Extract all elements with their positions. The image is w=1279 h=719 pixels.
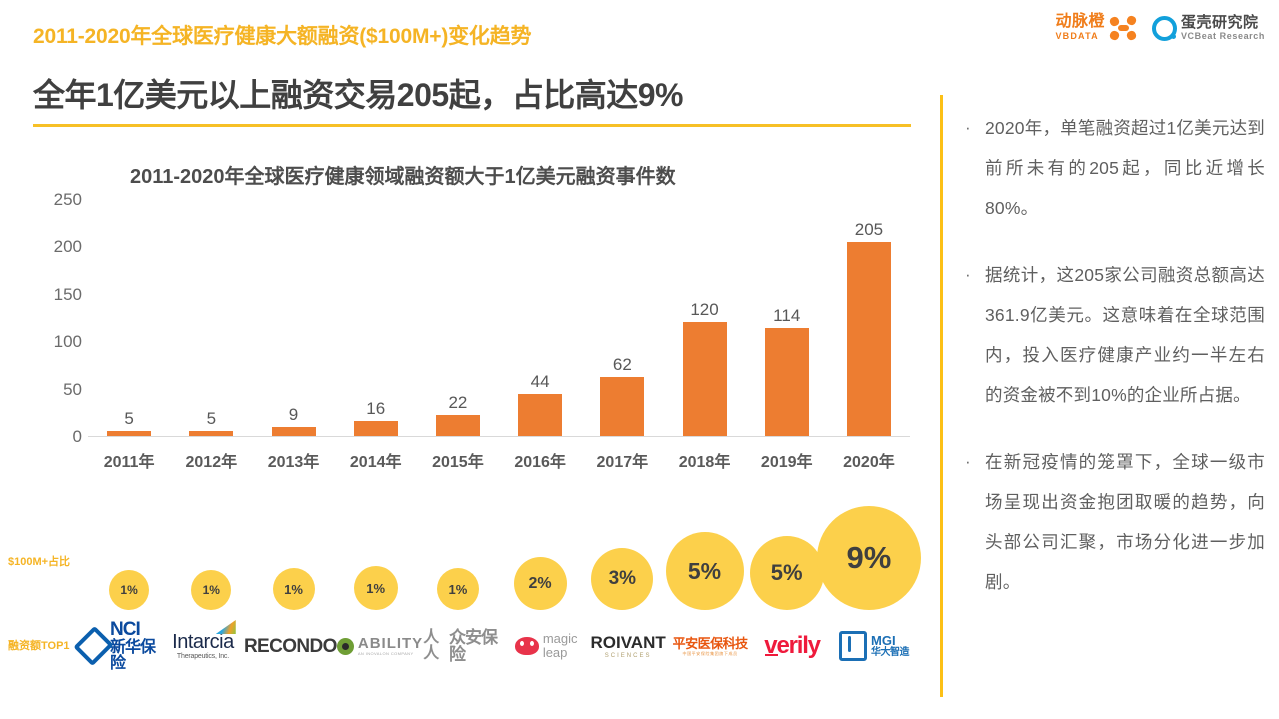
commentary-panel: ·2020年，单笔融资超过1亿美元达到前所未有的205起，同比近增长80%。·据…: [965, 108, 1265, 629]
brand-logos: 动脉橙 VBDATA 蛋壳研究院 VCBeat Research: [1055, 14, 1265, 41]
logo-magic-t1: magic: [543, 632, 578, 646]
diamond-icon: [73, 626, 113, 666]
bar-value-label: 22: [448, 394, 467, 411]
commentary-text: 在新冠疫情的笼罩下，全球一级市场呈现出资金抱团取暖的趋势，向头部公司汇聚，市场分…: [985, 442, 1265, 602]
y-axis: 250200150100500: [20, 200, 82, 437]
x-axis-tick: 2013年: [252, 448, 334, 472]
x-axis-tick: 2011年: [88, 448, 170, 472]
logo-mgi-t2: 华大智造: [871, 648, 909, 658]
bar-item[interactable]: 120: [663, 200, 745, 436]
x-axis-tick: 2017年: [581, 448, 663, 472]
x-axis-tick: 2012年: [170, 448, 252, 472]
logo-roivant-t1: ROIVANT: [591, 634, 666, 651]
share-bubble-row: 1%1%1%1%1%2%3%5%5%9%: [88, 500, 910, 615]
page-title: 全年1亿美元以上融资交易205起，占比高达9%: [33, 70, 683, 116]
vertical-panel-divider: [940, 95, 943, 697]
logo-recondo: RECONDO: [244, 620, 337, 672]
vbdata-logo-cn: 动脉橙: [1055, 14, 1105, 30]
logo-roivant: ROIVANT SCIENCES: [587, 620, 669, 672]
bar-rect[interactable]: [189, 431, 233, 436]
commentary-item: ·据统计，这205家公司融资总额高达361.9亿美元。这意味着在全球范围内，投入…: [965, 255, 1265, 415]
logo-pingan-t2: 中国平安保险集团旗下成员: [682, 652, 737, 656]
bar-item[interactable]: 62: [581, 200, 663, 436]
bar-value-label: 16: [366, 400, 385, 417]
chart-title: 2011-2020年全球医疗健康领域融资额大于1亿美元融资事件数: [130, 160, 676, 189]
bar-value-label: 120: [690, 301, 718, 318]
bar-value-label: 5: [124, 410, 133, 427]
bar-rect[interactable]: [436, 415, 480, 436]
bar-rect[interactable]: [765, 328, 809, 436]
plot-area: 55916224462120114205: [88, 200, 910, 437]
logo-nci-t1: NCI: [110, 620, 162, 639]
portfolio-row-label: 融资额TOP1: [8, 637, 70, 653]
bar-item[interactable]: 9: [252, 200, 334, 436]
share-bubble[interactable]: 9%: [817, 506, 921, 610]
bar-rect[interactable]: [847, 242, 891, 436]
commentary-item: ·2020年，单笔融资超过1亿美元达到前所未有的205起，同比近增长80%。: [965, 108, 1265, 228]
logo-nci: NCI 新华保险: [80, 620, 162, 672]
vbdata-logo: 动脉橙 VBDATA: [1055, 14, 1136, 41]
logo-recondo-t1: RECONDO: [244, 637, 337, 656]
share-bubble[interactable]: 3%: [591, 548, 653, 610]
bullet-icon: ·: [965, 108, 985, 228]
vcbeat-logo-cn: 蛋壳研究院: [1181, 15, 1265, 30]
bar-item[interactable]: 205: [828, 200, 910, 436]
logo-zhongan: 人人 众安保险: [423, 620, 505, 672]
share-bubble[interactable]: 1%: [109, 570, 149, 610]
bar-chart: 250200150100500 55916224462120114205 201…: [20, 200, 920, 485]
x-axis-tick: 2014年: [335, 448, 417, 472]
share-bubble[interactable]: 1%: [437, 568, 479, 610]
logo-magic-leap: magic leap: [505, 620, 587, 672]
bar-rect[interactable]: [354, 421, 398, 436]
bar-rect[interactable]: [518, 394, 562, 436]
y-axis-tick: 50: [63, 380, 82, 400]
bullet-icon: ·: [965, 442, 985, 602]
y-axis-tick: 200: [54, 237, 82, 257]
bar-item[interactable]: 114: [746, 200, 828, 436]
x-axis-tick: 2015年: [417, 448, 499, 472]
bar-rect[interactable]: [107, 431, 151, 436]
share-bubble[interactable]: 5%: [666, 532, 744, 610]
bar-rect[interactable]: [683, 322, 727, 436]
blue-ring-icon: [1152, 16, 1176, 40]
orange-petals-icon: [1110, 16, 1136, 40]
share-bubble[interactable]: 1%: [273, 568, 315, 610]
bar-value-label: 44: [531, 373, 550, 390]
bar-item[interactable]: 22: [417, 200, 499, 436]
logo-intarcia-t2: Therapeutics, Inc.: [177, 653, 229, 660]
logo-verily: verily: [751, 620, 833, 672]
portfolio-logo-strip: NCI 新华保险 Intarcia Therapeutics, Inc. REC…: [80, 618, 915, 674]
x-axis-tick: 2020年: [828, 448, 910, 472]
mountain-icon: 人人: [423, 630, 446, 662]
share-bubble[interactable]: 2%: [514, 557, 567, 610]
bar-series: 55916224462120114205: [88, 200, 910, 436]
logo-verily-t1: verily: [764, 634, 820, 658]
share-bubble[interactable]: 5%: [750, 536, 824, 610]
logo-mgi-t1: MGI: [871, 634, 909, 647]
mgi-mark-icon: [839, 631, 867, 661]
logo-intarcia-t1: Intarcia: [172, 632, 234, 652]
bar-value-label: 9: [289, 406, 298, 423]
logo-ability: ABILITY AN INOVALON COMPANY: [337, 620, 423, 672]
x-axis-tick: 2016年: [499, 448, 581, 472]
y-axis-tick: 250: [54, 190, 82, 210]
share-bubble[interactable]: 1%: [354, 566, 398, 610]
bar-rect[interactable]: [272, 427, 316, 436]
x-axis-line: [88, 436, 910, 437]
y-axis-tick: 0: [73, 427, 82, 447]
logo-zhongan-t1: 众安保险: [449, 629, 505, 663]
logo-ability-t1: ABILITY: [358, 636, 423, 651]
bubble-row-label: $100M+占比: [8, 553, 70, 569]
bar-value-label: 205: [855, 221, 883, 238]
bar-value-label: 5: [207, 410, 216, 427]
green-blob-icon: [337, 638, 354, 655]
logo-magic-t2: leap: [543, 646, 578, 660]
bar-item[interactable]: 44: [499, 200, 581, 436]
bar-value-label: 114: [773, 307, 800, 324]
bar-item[interactable]: 5: [170, 200, 252, 436]
bar-item[interactable]: 16: [335, 200, 417, 436]
whale-face-icon: [515, 637, 539, 655]
commentary-text: 据统计，这205家公司融资总额高达361.9亿美元。这意味着在全球范围内，投入医…: [985, 255, 1265, 415]
logo-roivant-t2: SCIENCES: [605, 653, 652, 659]
share-bubble[interactable]: 1%: [191, 570, 231, 610]
logo-ability-t2: AN INOVALON COMPANY: [358, 652, 423, 656]
commentary-item: ·在新冠疫情的笼罩下，全球一级市场呈现出资金抱团取暖的趋势，向头部公司汇聚，市场…: [965, 442, 1265, 602]
logo-nci-t2: 新华保险: [110, 640, 162, 672]
swoosh-icon: [216, 620, 236, 634]
bullet-icon: ·: [965, 255, 985, 415]
logo-pingan: 平安医保科技 中国平安保险集团旗下成员: [669, 620, 751, 672]
vcbeat-logo: 蛋壳研究院 VCBeat Research: [1152, 15, 1265, 41]
slide-kicker: 2011-2020年全球医疗健康大额融资($100M+)变化趋势: [33, 20, 531, 50]
logo-intarcia: Intarcia Therapeutics, Inc.: [162, 620, 244, 672]
vbdata-logo-en: VBDATA: [1055, 32, 1105, 41]
x-axis: 2011年2012年2013年2014年2015年2016年2017年2018年…: [88, 448, 910, 472]
commentary-text: 2020年，单笔融资超过1亿美元达到前所未有的205起，同比近增长80%。: [985, 108, 1265, 228]
x-axis-tick: 2018年: [663, 448, 745, 472]
logo-mgi: MGI 华大智造: [833, 620, 915, 672]
x-axis-tick: 2019年: [746, 448, 828, 472]
y-axis-tick: 100: [54, 332, 82, 352]
bar-rect[interactable]: [600, 377, 644, 436]
bar-value-label: 62: [613, 356, 632, 373]
y-axis-tick: 150: [54, 285, 82, 305]
logo-pingan-t1: 平安医保科技: [673, 637, 748, 650]
bar-item[interactable]: 5: [88, 200, 170, 436]
vcbeat-logo-en: VCBeat Research: [1181, 32, 1265, 41]
headline-divider: [33, 124, 911, 127]
